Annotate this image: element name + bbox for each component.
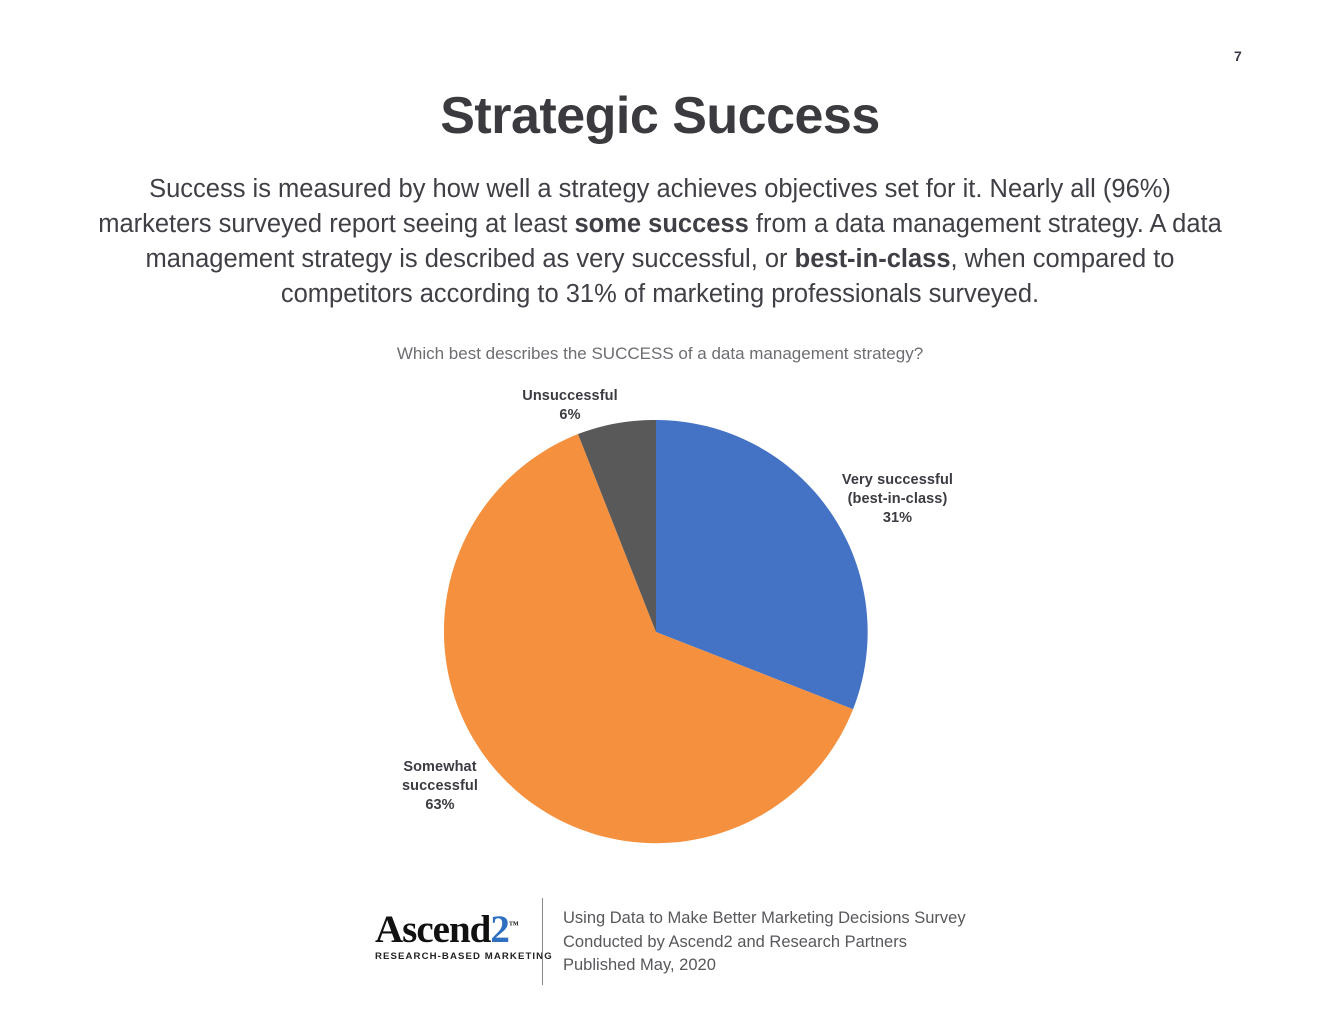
pie-label-very-successful-value: 31% (790, 509, 1005, 528)
logo-tagline: RESEARCH-BASED MARKETING (375, 951, 520, 962)
logo-numeral-two: 2 (490, 908, 509, 951)
chart-question: Which best describes the SUCCESS of a da… (0, 344, 1320, 364)
intro-paragraph: Success is measured by how well a strate… (95, 172, 1225, 312)
source-line-2: Conducted by Ascend2 and Research Partne… (563, 931, 966, 955)
intro-bold-some-success: some success (574, 210, 748, 238)
source-line-1: Using Data to Make Better Marketing Deci… (563, 907, 966, 931)
intro-bold-best-in-class: best-in-class (795, 245, 951, 273)
footer: Ascend2™ RESEARCH-BASED MARKETING Using … (375, 898, 995, 988)
pie-label-very-successful-line2: (best-in-class) (848, 491, 948, 507)
pie-label-very-successful: Very successful (best-in-class) 31% (790, 471, 1005, 528)
source-citation: Using Data to Make Better Marketing Deci… (563, 907, 966, 978)
pie-label-somewhat-successful-value: 63% (340, 796, 540, 815)
footer-divider (542, 898, 543, 985)
page-title: Strategic Success (0, 88, 1320, 145)
logo-trademark-icon: ™ (509, 920, 519, 931)
page-number: 7 (1234, 48, 1242, 64)
pie-label-unsuccessful-line1: Unsuccessful (522, 388, 618, 404)
pie-chart: Unsuccessful 6% Very successful (best-in… (0, 380, 1320, 870)
source-line-3: Published May, 2020 (563, 954, 966, 978)
pie-label-unsuccessful-value: 6% (470, 406, 670, 425)
logo-wordmark: Ascend2™ (375, 906, 520, 950)
pie-label-somewhat-successful: Somewhat successful 63% (340, 758, 540, 815)
logo-word-ascend: Ascend (375, 908, 490, 951)
ascend2-logo: Ascend2™ RESEARCH-BASED MARKETING (375, 906, 520, 962)
pie-label-somewhat-successful-line2: successful (402, 778, 478, 794)
pie-label-very-successful-line1: Very successful (842, 472, 953, 488)
pie-label-somewhat-successful-line1: Somewhat (403, 759, 476, 775)
pie-label-unsuccessful: Unsuccessful 6% (470, 387, 670, 425)
